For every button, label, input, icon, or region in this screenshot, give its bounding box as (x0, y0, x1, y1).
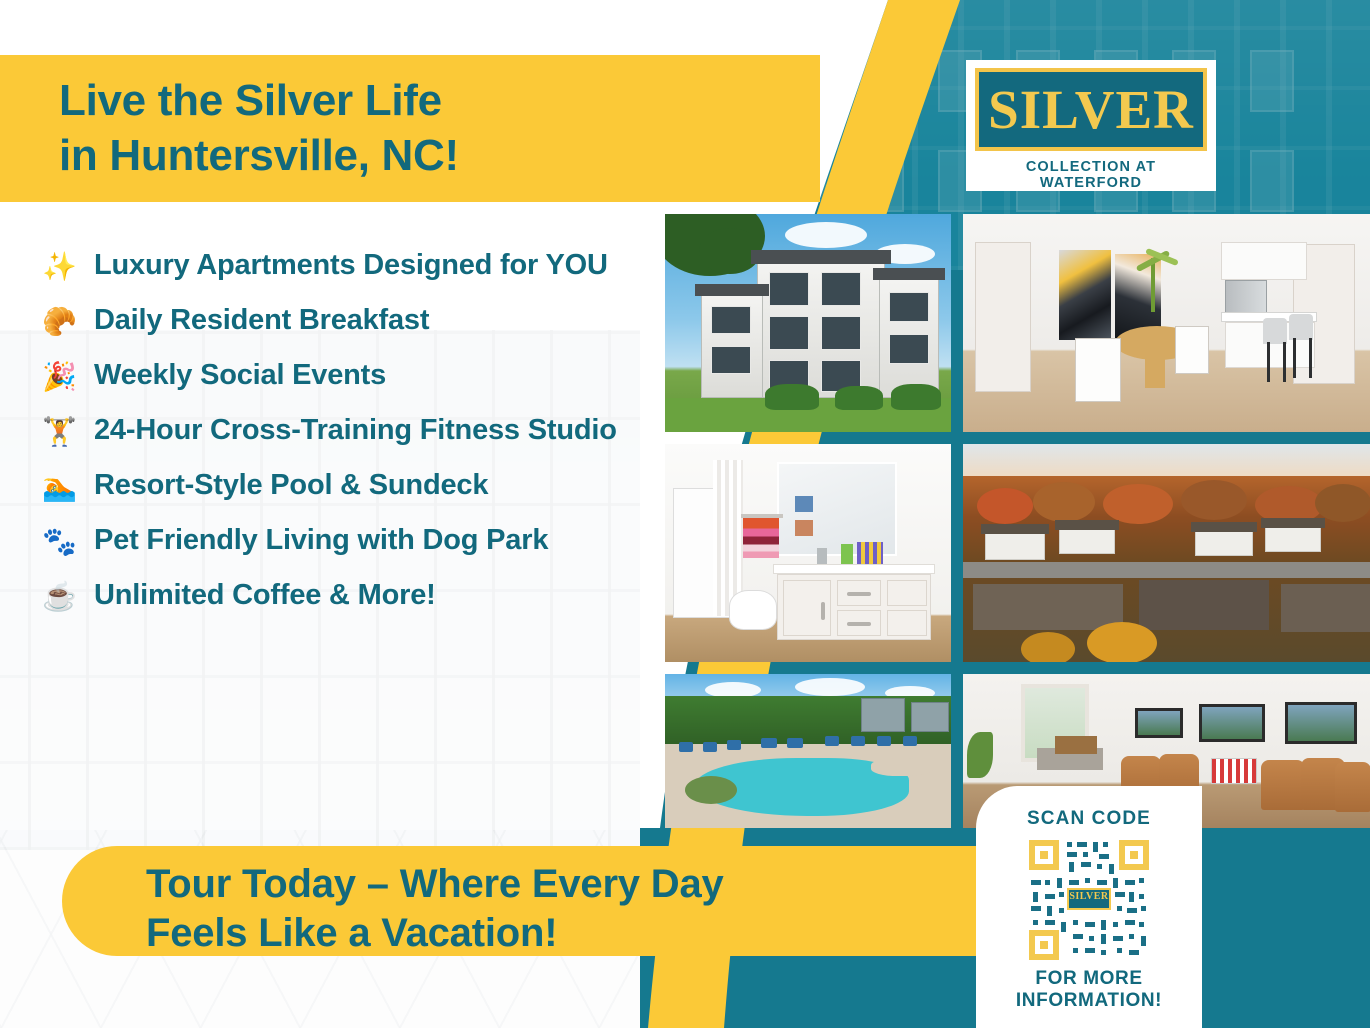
qr-title: SCAN CODE (976, 808, 1202, 830)
qr-finder-top-right (1119, 840, 1149, 870)
list-item-label: Unlimited Coffee & More! (94, 578, 436, 612)
headline-line-1: Live the Silver Life (59, 73, 759, 128)
amenities-list: ✨ Luxury Apartments Designed for YOU 🥐 D… (42, 248, 662, 633)
cta-text: Tour Today – Where Every Day Feels Like … (146, 860, 966, 958)
cta-line-2: Feels Like a Vacation! (146, 909, 966, 958)
list-item: 🥐 Daily Resident Breakfast (42, 303, 662, 338)
list-item: ✨ Luxury Apartments Designed for YOU (42, 248, 662, 283)
qr-code-card[interactable]: SCAN CODE (976, 786, 1202, 1028)
headline-line-2: in Huntersville, NC! (59, 128, 759, 183)
list-item-label: Luxury Apartments Designed for YOU (94, 248, 608, 282)
list-item-label: Daily Resident Breakfast (94, 303, 429, 337)
qr-embedded-logo: SILVER (1067, 888, 1111, 910)
qr-code-image[interactable]: SILVER (1029, 840, 1149, 960)
qr-finder-top-left (1029, 840, 1059, 870)
qr-footer-line-1: FOR MORE (976, 968, 1202, 990)
list-item-label: Pet Friendly Living with Dog Park (94, 523, 548, 557)
pool-photo (665, 674, 951, 828)
list-item-label: Weekly Social Events (94, 358, 386, 392)
list-item-label: 24-Hour Cross-Training Fitness Studio (94, 413, 617, 447)
paw-prints-icon: 🐾 (42, 523, 94, 558)
qr-footer: FOR MORE INFORMATION! (976, 968, 1202, 1012)
bathroom-photo (665, 444, 951, 662)
coffee-icon: ☕ (42, 578, 94, 613)
list-item: ☕ Unlimited Coffee & More! (42, 578, 662, 613)
apartment-marketing-flyer: Live the Silver Life in Huntersville, NC… (0, 0, 1370, 1028)
silver-collection-logo: SILVER COLLECTION AT WATERFORD (966, 60, 1216, 191)
party-popper-icon: 🎉 (42, 358, 94, 393)
logo-tagline: COLLECTION AT WATERFORD (975, 159, 1207, 191)
exterior-building-photo (665, 214, 951, 432)
swimmer-icon: 🏊 (42, 468, 94, 503)
logo-wordmark-box: SILVER (975, 68, 1207, 151)
cta-banner[interactable]: Tour Today – Where Every Day Feels Like … (62, 846, 1050, 956)
dining-kitchen-photo (963, 214, 1370, 432)
photo-grid (665, 202, 1370, 828)
dumbbell-icon: 🏋️ (42, 413, 94, 448)
logo-wordmark: SILVER (988, 82, 1194, 137)
qr-finder-bottom-left (1029, 930, 1059, 960)
sparkles-icon: ✨ (42, 248, 94, 283)
aerial-community-photo (963, 444, 1370, 662)
list-item: 🐾 Pet Friendly Living with Dog Park (42, 523, 662, 558)
list-item: 🎉 Weekly Social Events (42, 358, 662, 393)
croissant-icon: 🥐 (42, 303, 94, 338)
page-title: Live the Silver Life in Huntersville, NC… (59, 73, 759, 184)
cta-line-1: Tour Today – Where Every Day (146, 860, 966, 909)
list-item: 🏊 Resort-Style Pool & Sundeck (42, 468, 662, 503)
list-item-label: Resort-Style Pool & Sundeck (94, 468, 488, 502)
list-item: 🏋️ 24-Hour Cross-Training Fitness Studio (42, 413, 662, 448)
qr-footer-line-2: INFORMATION! (976, 990, 1202, 1012)
